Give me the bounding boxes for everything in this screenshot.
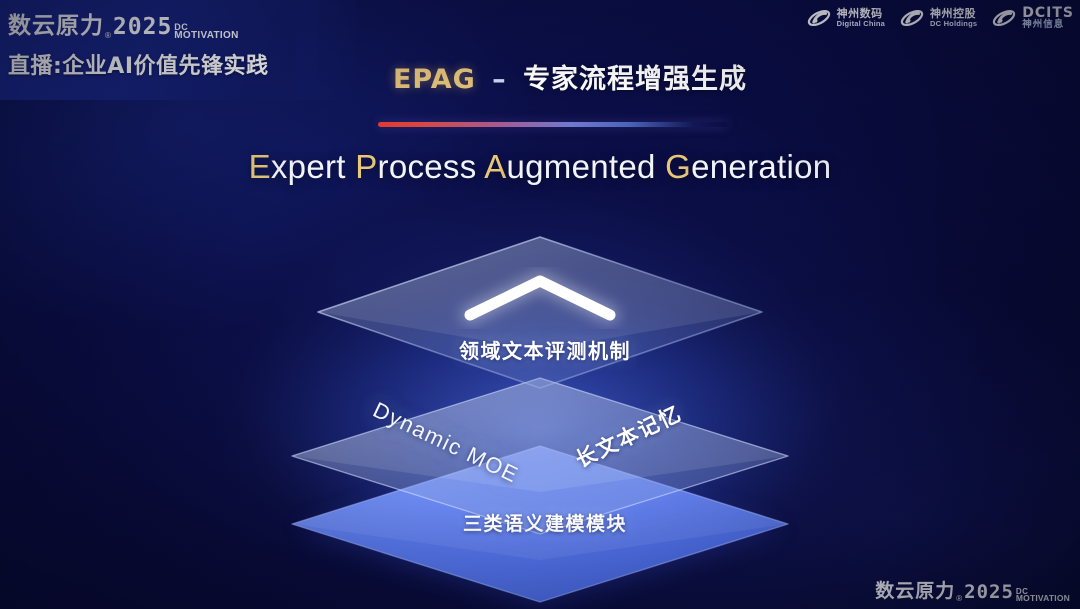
layer-top-label: 领域文本评测机制 [0,335,1080,364]
main-title-part-2: P [355,148,377,185]
partner-text: 神州数码 Digital China [837,8,885,27]
watermark-year: 2025 [964,581,1014,603]
partner-logo-dc-holdings: 神州控股 DC Holdings [899,5,977,31]
watermark-dc-motivation: DC MOTIVATION [1016,588,1070,603]
event-logo-name-cn: 数云原力 [8,6,104,40]
slide-title-acronym: EPAG [393,64,476,95]
swirl-logo-icon [991,5,1017,31]
main-title-part-3: rocess [378,148,485,185]
swirl-logo-icon [899,5,925,31]
layer-bottom-label: 三类语义建模模块 [0,509,1080,536]
partner-logos: 神州数码 Digital China 神州控股 DC Holdings [806,5,1074,31]
main-title-part-5: ugmented [507,148,666,185]
slide-title-cn: 专家流程增强生成 [523,64,747,95]
partner-name-en: Digital China [837,20,885,28]
event-logo: 数云原力 ® 2025 DC MOTIVATION [8,6,239,40]
partner-logo-dcits: DCITS 神州信息 [991,5,1074,31]
main-title-part-1: xpert [271,148,355,185]
layer-top [318,237,762,388]
partner-name-en: DC Holdings [930,20,977,28]
swirl-logo-icon [806,5,832,31]
partner-name-en: 神州信息 [1022,20,1074,30]
watermark-motivation: MOTIVATION [1016,595,1070,603]
chevron-up-icon [470,281,610,315]
registered-mark-icon: ® [105,31,111,40]
watermark-name-cn: 数云原力 [875,576,955,603]
main-title-part-7: eneration [691,148,831,185]
event-logo-year: 2025 [113,14,172,40]
title-divider [378,122,728,127]
main-title-part-4: A [484,148,506,185]
slide-canvas: 领域文本评测机制 Dynamic MOE 长文本记忆 三类语义建模模块 数云原力… [0,0,1080,609]
slide-subtitle: EPAG – 专家流程增强生成 [0,57,1080,96]
event-logo-dc-motivation: DC MOTIVATION [174,23,238,40]
partner-text: DCITS 神州信息 [1022,6,1074,31]
layer-middle-right-label: 长文本记忆 [570,397,687,474]
layer-middle-left-label: Dynamic MOE [369,397,523,489]
main-title-part-6: G [665,148,691,185]
slide-title-dash: – [492,64,507,95]
page-title: Expert Process Augmented Generation [0,148,1080,186]
event-logo-motivation: MOTIVATION [174,31,238,40]
footer-watermark-logo: 数云原力 ® 2025 DC MOTIVATION [875,576,1070,603]
partner-text: 神州控股 DC Holdings [930,8,977,27]
registered-mark-icon: ® [956,594,962,603]
main-title-part-0: E [249,148,271,185]
partner-logo-digital-china: 神州数码 Digital China [806,5,885,31]
